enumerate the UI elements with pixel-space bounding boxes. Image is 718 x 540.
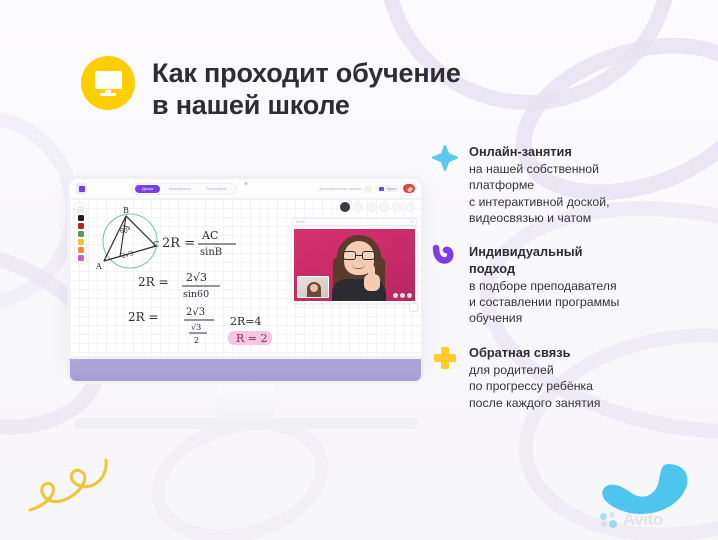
feature-item-feedback: Обратная связь для родителей по прогресс… (432, 344, 694, 411)
screen-share-label: Экран (386, 187, 396, 191)
tab-materials[interactable]: Материалы (162, 185, 197, 193)
thumbs-up-icon (364, 265, 380, 291)
slide-root: Как проходит обучение в нашей школе Доск… (0, 0, 718, 540)
video-call-panel: Поиск ▾ (292, 218, 417, 303)
svg-text:2√3: 2√3 (121, 249, 135, 260)
svg-text:B: B (123, 206, 129, 215)
search-placeholder: Поиск (296, 220, 305, 224)
svg-text:sin60: sin60 (183, 289, 209, 300)
page-header: Как проходит обучение в нашей школе (81, 56, 461, 121)
svg-text:2√3: 2√3 (186, 271, 207, 284)
monitor-base (74, 418, 418, 429)
svg-text:2√3: 2√3 (186, 307, 205, 318)
page-title-line1: Как проходит обучение (152, 57, 461, 89)
svg-text:60°: 60° (120, 228, 131, 235)
chevron-down-icon[interactable]: ▾ (411, 220, 413, 224)
svg-text:sinB: sinB (200, 247, 222, 258)
feature-title: Индивидуальный подход (469, 244, 619, 276)
feature-desc: в подборе преподавателя и составлении пр… (469, 278, 619, 327)
end-call-icon[interactable]: ☎ (403, 184, 415, 193)
teacher-video-avatar (330, 231, 388, 301)
call-controls-icon[interactable] (393, 293, 412, 298)
feature-item-individual: Индивидуальный подход в подборе преподав… (432, 243, 694, 326)
feature-title: Онлайн-занятия (469, 144, 610, 160)
svg-text:2R=4: 2R=4 (230, 315, 262, 328)
picture-in-picture[interactable] (297, 276, 329, 298)
color-red[interactable] (78, 223, 84, 229)
app-logo-icon (76, 183, 87, 194)
svg-text:√3: √3 (191, 323, 201, 332)
avito-logo-icon (600, 512, 620, 528)
avito-watermark: Avito (600, 510, 663, 530)
plus-icon (432, 344, 458, 411)
add-tool[interactable] (405, 202, 415, 212)
search-input[interactable]: Поиск ▾ (292, 218, 417, 226)
color-yellow[interactable] (78, 239, 84, 245)
svg-text:AC: AC (201, 229, 218, 242)
canvas-tools[interactable] (340, 202, 415, 212)
color-palette[interactable] (74, 203, 87, 264)
monitor-icon (81, 56, 135, 110)
eraser-tool[interactable] (353, 202, 363, 212)
tab-settings[interactable]: Настройки (200, 185, 234, 193)
screen-share-button[interactable]: Экран (375, 185, 400, 192)
svg-text:A: A (95, 262, 102, 271)
svg-text:2: 2 (194, 336, 199, 345)
shapes-tool[interactable] (366, 202, 376, 212)
color-black[interactable] (78, 215, 84, 221)
app-tabs: Доска Материалы Настройки (131, 183, 237, 195)
avito-brand-text: Avito (623, 510, 663, 530)
monitor-screen: Доска Материалы Настройки Дополнительное… (67, 176, 424, 359)
svg-text:2R =: 2R = (162, 236, 195, 251)
feature-desc: для родителей по прогрессу ребёнка после… (469, 362, 600, 411)
gear-icon[interactable] (364, 185, 372, 193)
whiteboard-math: B A C 60° 2√3 2R = AC sinB 2R = 2√3 sin6… (90, 207, 280, 355)
monitor-chin (67, 358, 424, 384)
app-toolbar-right: Дополнительное занятие Экран ☎ (319, 184, 415, 193)
image-tool[interactable] (392, 202, 402, 212)
whiteboard-canvas[interactable]: B A C 60° 2√3 2R = AC sinB 2R = 2√3 sin6… (70, 199, 421, 359)
yellow-squiggle-doodle (26, 458, 110, 530)
color-orange[interactable] (78, 247, 84, 253)
pen-tool[interactable] (340, 202, 350, 212)
star-icon (432, 143, 458, 226)
svg-text:2R =: 2R = (138, 275, 169, 289)
page-title: Как проходит обучение в нашей школе (152, 56, 461, 121)
svg-text:R = 2: R = 2 (236, 332, 268, 345)
tab-board[interactable]: Доска (135, 185, 160, 193)
feature-list: Онлайн-занятия на нашей собственной плат… (432, 143, 694, 428)
session-label: Дополнительное занятие (319, 187, 361, 191)
glasses-icon (343, 251, 375, 260)
page-title-line2: в нашей школе (152, 89, 461, 121)
monitor-mockup: Доска Материалы Настройки Дополнительное… (67, 176, 424, 429)
feature-desc: на нашей собственной платформе с интерак… (469, 161, 610, 226)
text-tool[interactable] (379, 202, 389, 212)
webcam-dot (244, 182, 247, 185)
monitor-stand (218, 384, 274, 418)
svg-text:C: C (153, 240, 159, 249)
color-violet[interactable] (78, 255, 84, 261)
feature-title: Обратная связь (469, 345, 600, 361)
lock-icon[interactable] (77, 206, 84, 213)
svg-text:2R =: 2R = (128, 310, 159, 324)
resize-handle-icon[interactable] (409, 303, 418, 312)
video-feed[interactable] (292, 227, 417, 303)
crescent-icon (432, 243, 458, 326)
color-green[interactable] (78, 231, 84, 237)
feature-item-online: Онлайн-занятия на нашей собственной плат… (432, 143, 694, 226)
